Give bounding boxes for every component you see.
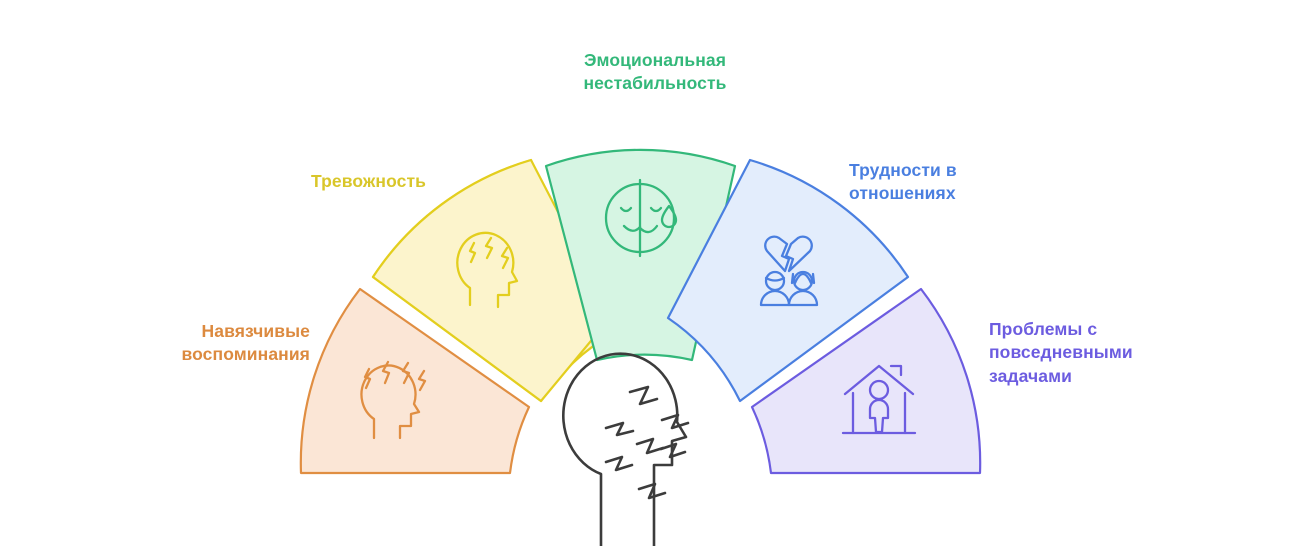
segment-label-daily: Проблемы с повседневными задачами [989, 318, 1219, 388]
infographic-canvas: Эмоциональная нестабильность Тревожность… [0, 0, 1300, 546]
segment-label-emotional: Эмоциональная нестабильность [540, 49, 770, 96]
center-head-icon [563, 354, 688, 546]
segment-label-relations: Трудности в отношениях [849, 159, 1049, 206]
segment-label-intrusive: Навязчивые воспоминания [120, 320, 310, 367]
segment-label-anxiety: Тревожность [226, 170, 426, 193]
